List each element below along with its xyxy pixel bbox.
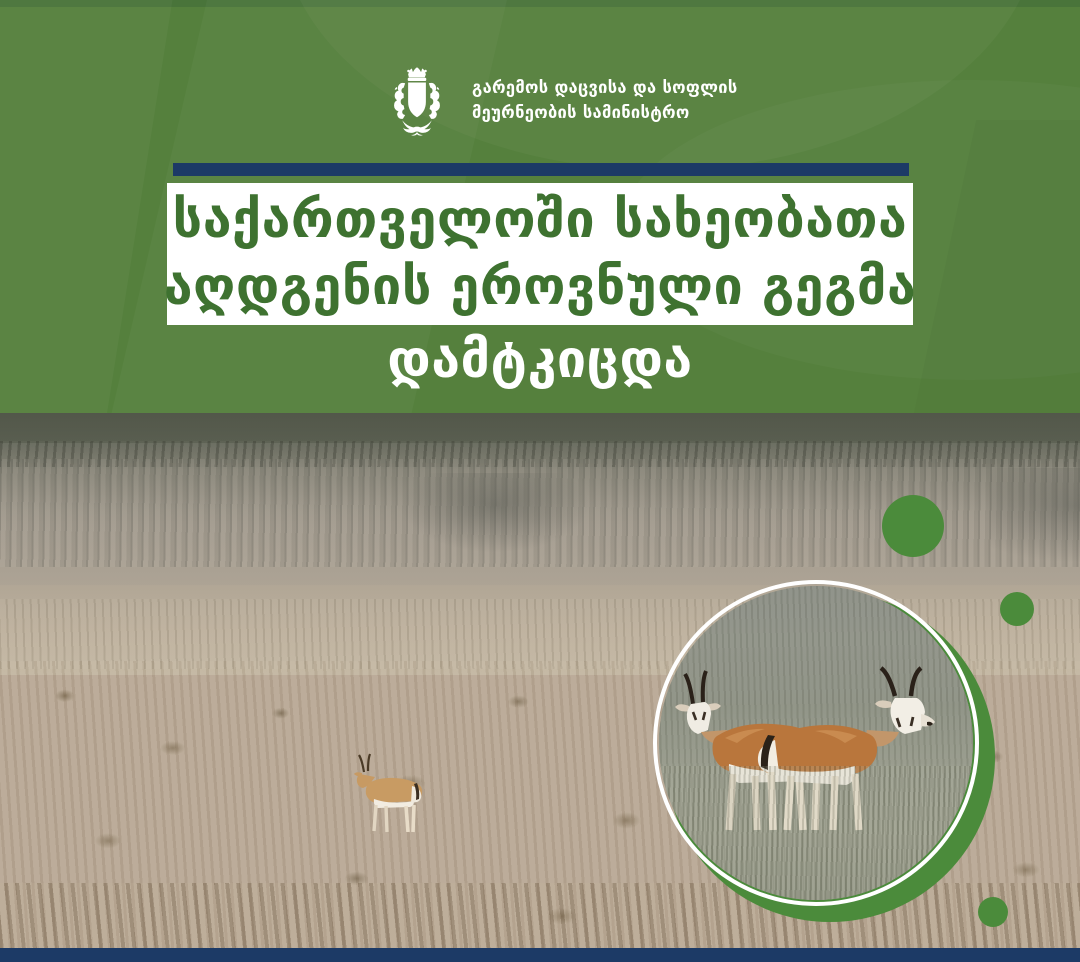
headline-line-2: აღდგენის ეროვნული გეგმა [164,254,917,321]
georgia-coat-of-arms-icon [380,64,454,138]
poster-root: გარემოს დაცვისა და სოფლის მეურნეობის სამ… [0,0,1080,962]
headline-line-1: საქართველოში სახეობათა [173,187,908,254]
header-top-strip [0,0,1080,7]
decor-circle-large [882,495,944,557]
footer-bar [0,948,1080,962]
ministry-lockup: გარემოს დაცვისა და სოფლის მეურნეობის სამ… [380,64,738,138]
inset-white-ring [653,580,979,906]
headline-box: საქართველოში სახეობათა აღდგენის ეროვნული… [167,183,913,325]
solo-gazelle-icon [342,750,442,836]
decor-circle-small [1000,592,1034,626]
headline-line-3: დამტკიცდა [0,332,1080,389]
title-accent-bar [173,163,909,176]
ministry-name: გარემოს დაცვისა და სოფლის მეურნეობის სამ… [472,76,738,126]
inset-photo-wrapper [653,580,1003,930]
